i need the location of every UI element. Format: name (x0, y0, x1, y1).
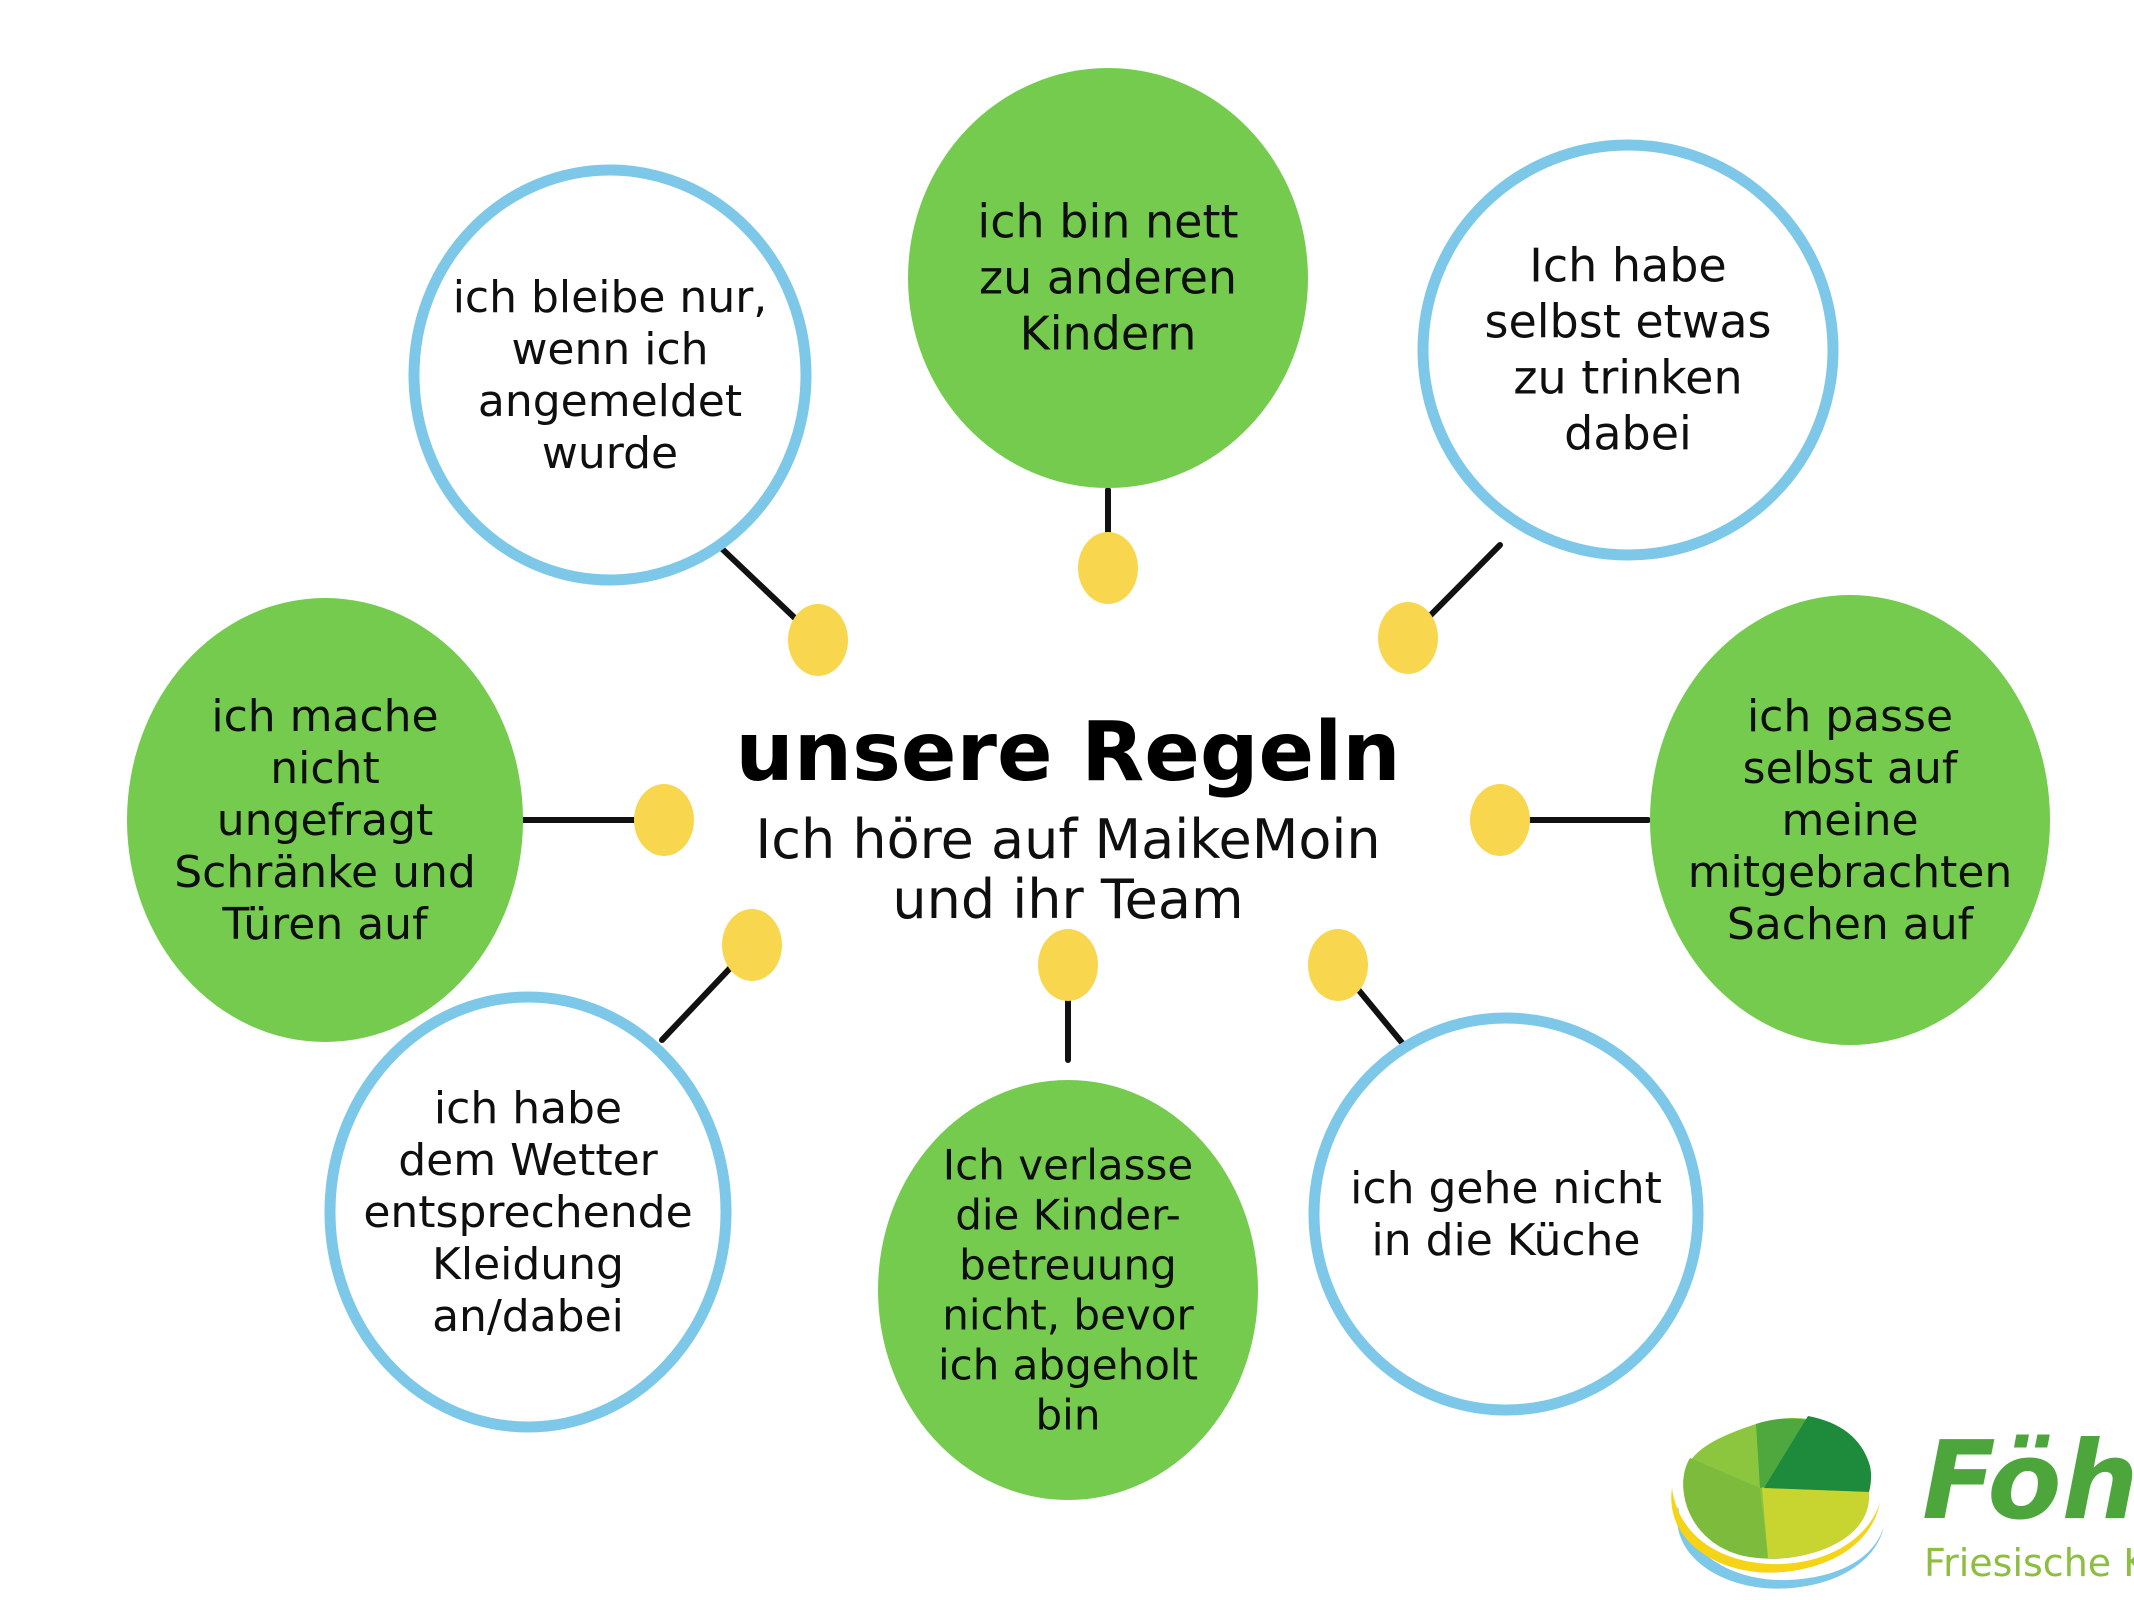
rule-bubble-sachen[interactable]: ich passeselbst aufmeinemitgebrachtenSac… (1650, 595, 2050, 1045)
connector-dot (1470, 784, 1530, 856)
connector-dot (634, 784, 694, 856)
rule-bubble-angemeldet[interactable]: ich bleibe nur,wenn ichangemeldetwurde (414, 170, 806, 580)
bubble-text-line: Türen auf (221, 899, 429, 950)
rule-bubble-kueche[interactable]: ich gehe nichtin die Küche (1314, 1018, 1698, 1410)
bubble-text-line: selbst etwas (1485, 295, 1772, 349)
logo-tagline: Friesische Karibik. (1924, 1541, 2134, 1585)
bubble-text-line: nicht (270, 743, 379, 794)
bubble-text-line: nicht, bevor (942, 1290, 1194, 1339)
rule-bubble-kleidung[interactable]: ich habedem WetterentsprechendeKleidunga… (330, 997, 726, 1427)
bubble-text-line: Sachen auf (1727, 899, 1975, 950)
bubble-text-line: zu anderen (979, 251, 1237, 305)
mindmap-canvas: ich bleibe nur,wenn ichangemeldetwurdeic… (0, 0, 2134, 1600)
rule-bubble-trinken[interactable]: Ich habeselbst etwaszu trinkendabei (1423, 145, 1833, 555)
bubble-text-line: bin (1036, 1390, 1101, 1439)
connector-dot (722, 909, 782, 981)
bubble-text-line: Ich habe (1529, 239, 1726, 293)
bubble-text-line: Kindern (1020, 307, 1197, 361)
bubble-text-line: zu trinken (1513, 351, 1742, 405)
bubble-text-line: ich gehe nicht (1350, 1163, 1662, 1214)
bubble-text-line: ich mache (211, 691, 438, 742)
bubble-text-line: wenn ich (511, 324, 708, 375)
rule-bubble-abgeholt[interactable]: Ich verlassedie Kinder-betreuungnicht, b… (878, 1080, 1258, 1500)
bubble-text-line: ich bleibe nur, (453, 272, 768, 323)
connector-dot (788, 604, 848, 676)
bubble-text-line: angemeldet (478, 376, 742, 427)
bubble-text-line: wurde (542, 428, 678, 479)
bubble-text-line: in die Küche (1371, 1215, 1640, 1266)
mindmap-svg: ich bleibe nur,wenn ichangemeldetwurdeic… (0, 0, 2134, 1600)
bubble-text-line: ich abgeholt (938, 1340, 1198, 1389)
bubble-text-line: ungefragt (217, 795, 434, 846)
bubble-text-line: betreuung (959, 1240, 1177, 1289)
center-label-group: unsere Regeln Ich höre auf MaikeMoin und… (735, 705, 1400, 931)
bubble-text-line: die Kinder- (955, 1190, 1181, 1239)
bubble-text-line: dabei (1564, 407, 1692, 461)
bubble-text-line: entsprechende (363, 1187, 692, 1238)
bubble-text-line: an/dabei (432, 1291, 624, 1342)
logo-island-segment-yellow-icon (1762, 1488, 1869, 1558)
bubble-text-line: selbst auf (1743, 743, 1959, 794)
foehr-logo: Föhr Friesische Karibik. (1671, 1416, 2134, 1589)
bubble-text-line: Schränke und (174, 847, 476, 898)
rule-bubble-schraenke[interactable]: ich machenichtungefragtSchränke undTüren… (127, 598, 523, 1042)
connector-dot (1038, 929, 1098, 1001)
center-subtitle-line-1: Ich höre auf MaikeMoin (755, 808, 1380, 871)
bubble-text-line: Kleidung (432, 1239, 624, 1290)
bubble-text-line: mitgebrachten (1688, 847, 2013, 898)
logo-wordmark: Föhr (1922, 1419, 2134, 1544)
bubble-text-line: ich passe (1747, 691, 1953, 742)
bubble-text-line: ich habe (434, 1083, 622, 1134)
bubble-text-line: dem Wetter (398, 1135, 658, 1186)
connector-dot (1078, 532, 1138, 604)
bubble-text-line: ich bin nett (977, 195, 1238, 249)
page-title: unsere Regeln (735, 705, 1400, 800)
bubble-text-line: Ich verlasse (943, 1140, 1193, 1189)
connector-dot (1308, 929, 1368, 1001)
connector-dot (1378, 602, 1438, 674)
foehr-logo-mark-icon (1671, 1416, 1884, 1589)
bubble-text-line: meine (1781, 795, 1918, 846)
center-subtitle-line-2: und ihr Team (892, 868, 1243, 931)
rule-bubble-nett[interactable]: ich bin nettzu anderenKindern (908, 68, 1308, 488)
